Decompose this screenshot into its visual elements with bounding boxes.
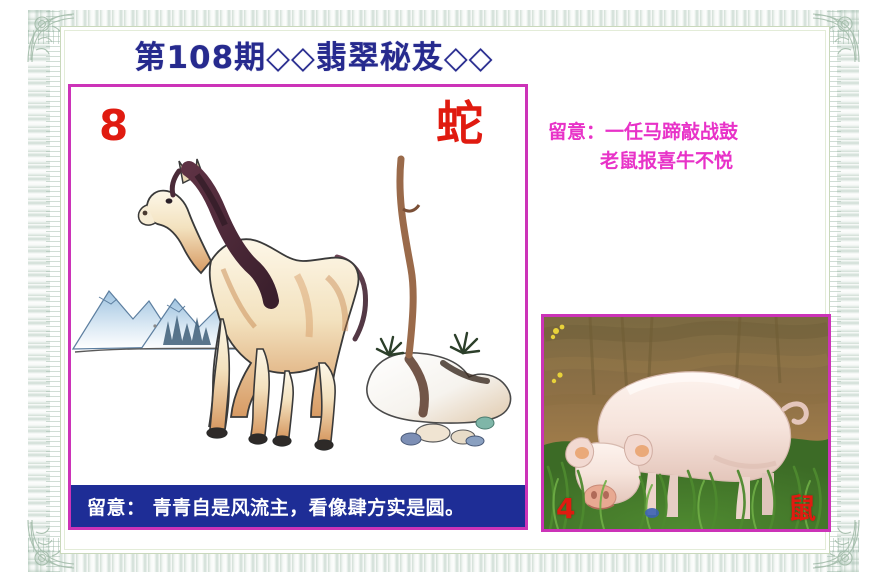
main-caption-bar: 留意： 青青自是风流主，看像肆方实是圆。 bbox=[71, 485, 525, 527]
main-number: 8 bbox=[99, 105, 128, 147]
frame-fringe-left bbox=[46, 10, 60, 572]
hint-line-1: 留意：一任马蹄敲战鼓 bbox=[548, 118, 828, 147]
pig-photo-panel: 4 鼠 bbox=[541, 314, 831, 532]
photo-number: 4 bbox=[556, 495, 575, 523]
hint-line-2: 老鼠报喜牛不悦 bbox=[548, 147, 828, 176]
page-title: 第108期◇◇翡翠秘芨◇◇ bbox=[64, 32, 564, 76]
page-root: 第108期◇◇翡翠秘芨◇◇ 8 蛇 bbox=[0, 0, 887, 582]
horse-mountain-illustration bbox=[71, 149, 525, 479]
main-zodiac: 蛇 bbox=[436, 101, 483, 148]
hint-block: 留意：一任马蹄敲战鼓 老鼠报喜牛不悦 bbox=[548, 118, 828, 177]
main-illustration-panel: 8 蛇 bbox=[68, 84, 528, 530]
pig-photo bbox=[544, 317, 828, 529]
photo-zodiac: 鼠 bbox=[788, 495, 816, 523]
